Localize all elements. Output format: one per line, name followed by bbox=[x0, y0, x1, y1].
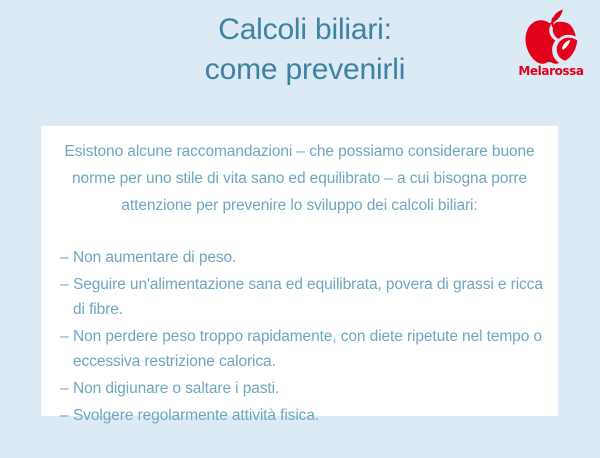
brand-wordmark: Melarossa bbox=[515, 64, 587, 78]
bullet-marker: – bbox=[60, 376, 69, 401]
bullet-marker: – bbox=[60, 272, 69, 297]
list-item: – Non aumentare di peso. bbox=[60, 245, 544, 270]
list-item-text: Non digiunare o saltare i pasti. bbox=[73, 380, 279, 397]
page-title: Calcoli biliari: come prevenirli bbox=[60, 10, 550, 90]
page-title-line-2: come prevenirli bbox=[60, 50, 550, 90]
list-item-text: Svolgere regolarmente attività fisica. bbox=[73, 407, 319, 424]
list-item: – Seguire un'alimentazione sana ed equil… bbox=[60, 272, 544, 322]
list-item-text: Non aumentare di peso. bbox=[73, 249, 236, 266]
list-item: – Non perdere peso troppo rapidamente, c… bbox=[60, 324, 544, 374]
list-item: – Svolgere regolarmente attività fisica. bbox=[60, 403, 544, 428]
content-card: Esistono alcune raccomandazioni – che po… bbox=[41, 126, 558, 416]
page-title-line-1: Calcoli biliari: bbox=[60, 10, 550, 50]
recommendations-list: – Non aumentare di peso. – Seguire un'al… bbox=[55, 245, 544, 428]
list-item-text: Non perdere peso troppo rapidamente, con… bbox=[73, 328, 542, 370]
intro-paragraph: Esistono alcune raccomandazioni – che po… bbox=[55, 138, 544, 219]
infographic-root: Calcoli biliari: come prevenirli Melaros… bbox=[0, 0, 600, 458]
bullet-marker: – bbox=[60, 403, 69, 428]
header: Calcoli biliari: come prevenirli Melaros… bbox=[0, 0, 600, 118]
bullet-marker: – bbox=[60, 245, 69, 270]
red-apple-icon bbox=[515, 8, 587, 66]
brand-logo: Melarossa bbox=[515, 8, 587, 90]
list-item-text: Seguire un'alimentazione sana ed equilib… bbox=[73, 276, 543, 318]
list-item: – Non digiunare o saltare i pasti. bbox=[60, 376, 544, 401]
bullet-marker: – bbox=[60, 324, 69, 349]
